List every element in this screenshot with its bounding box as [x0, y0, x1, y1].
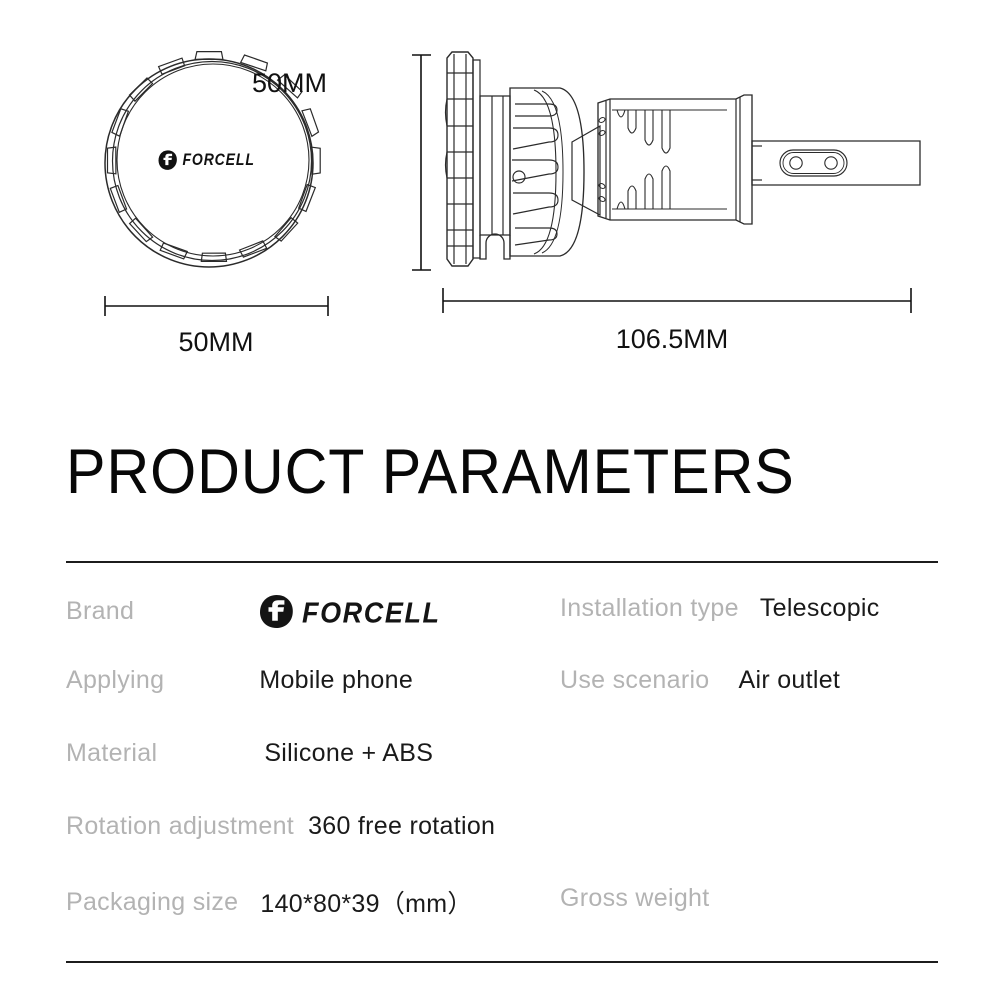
divider-bottom	[66, 961, 938, 963]
spec-value-applying: Mobile phone	[259, 666, 413, 695]
spec-cell-material: Material Silicone + ABS	[66, 739, 433, 768]
side-view-clamp-head	[598, 95, 752, 224]
spec-label-gross-weight: Gross weight	[560, 884, 710, 913]
dimension-width-label: 50MM	[178, 327, 253, 357]
spec-cell-installation-type: Installation type Telescopic	[560, 594, 880, 623]
spec-cell-rotation-adjustment: Rotation adjustment 360 free rotation	[66, 812, 495, 841]
forcell-logo: FORCELL	[259, 594, 483, 628]
technical-drawing-svg: FORCELL	[0, 0, 1000, 400]
spec-cell-brand: Brand FORCELL	[66, 594, 483, 628]
table-row: Applying Mobile phone Use scenario Air o…	[0, 666, 1000, 740]
table-row: Material Silicone + ABS	[0, 739, 1000, 813]
spec-table: Brand FORCELL Installation type Telescop…	[0, 561, 1000, 961]
spec-value-packaging-size: 140*80*39（mm）	[260, 884, 472, 920]
spec-cell-gross-weight: Gross weight	[560, 884, 739, 913]
spec-label-packaging-size: Packaging size	[66, 888, 238, 917]
side-view-fin-housing	[510, 88, 584, 256]
spec-cell-use-scenario: Use scenario Air outlet	[560, 666, 840, 695]
forcell-logo-on-product: FORCELL	[159, 150, 255, 169]
table-row: Brand FORCELL Installation type Telescop…	[0, 594, 1000, 668]
dimension-height-label: 50MM	[252, 68, 327, 98]
spec-value-use-scenario: Air outlet	[739, 666, 841, 695]
spec-value-installation-type: Telescopic	[760, 594, 880, 623]
spec-cell-applying: Applying Mobile phone	[66, 666, 413, 695]
spec-label-use-scenario: Use scenario	[560, 666, 710, 695]
side-view-knob-edge	[446, 52, 474, 266]
spec-label-installation-type: Installation type	[560, 594, 739, 623]
svg-text:FORCELL: FORCELL	[302, 597, 441, 628]
side-view-assembly	[446, 52, 921, 266]
spec-label-material: Material	[66, 739, 157, 768]
spec-label-applying: Applying	[66, 666, 164, 695]
spec-value-material: Silicone + ABS	[264, 739, 433, 768]
table-row: Rotation adjustment 360 free rotation	[0, 812, 1000, 886]
page-title: PRODUCT PARAMETERS	[66, 437, 795, 507]
technical-drawing-area: FORCELL	[0, 0, 1000, 400]
spec-label-brand: Brand	[66, 597, 134, 626]
dimension-length-label: 106.5MM	[616, 324, 729, 354]
side-view-base-collar	[480, 96, 510, 259]
spec-cell-packaging-size: Packaging size 140*80*39（mm）	[66, 884, 473, 920]
table-row: Packaging size 140*80*39（mm） Gross weigh…	[0, 884, 1000, 958]
side-view-telescopic-arm	[752, 141, 920, 185]
spec-label-rotation-adjustment: Rotation adjustment	[66, 812, 294, 841]
spec-value-rotation-adjustment: 360 free rotation	[308, 812, 495, 841]
svg-text:FORCELL: FORCELL	[182, 151, 254, 169]
side-view-neck	[572, 126, 600, 215]
